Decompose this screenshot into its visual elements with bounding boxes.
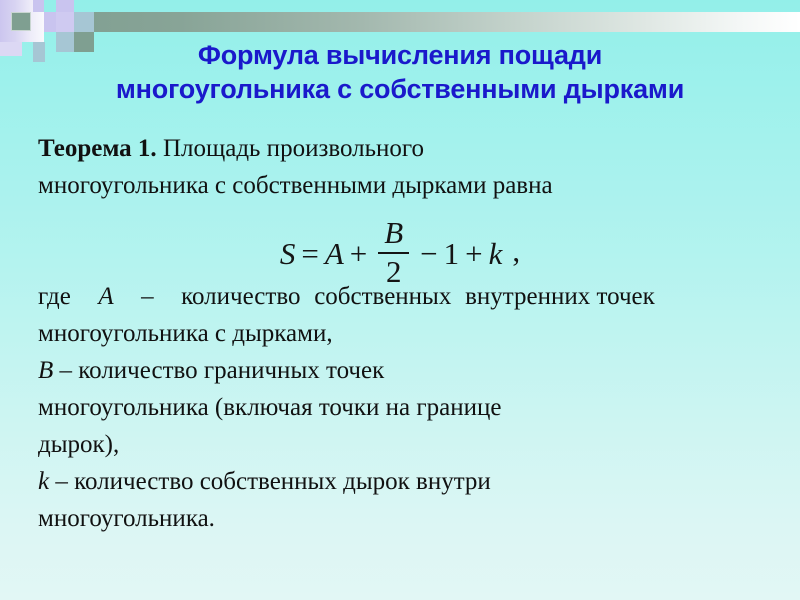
formula-term-k: k bbox=[489, 236, 503, 271]
definition-b-dash: – bbox=[60, 357, 73, 384]
definition-k: k – количество собственных дырок внутри … bbox=[38, 463, 780, 537]
formula-lhs: S bbox=[280, 236, 296, 271]
definition-b: B – количество граничных точек многоугол… bbox=[38, 352, 780, 463]
formula-plus-1: + bbox=[350, 236, 367, 271]
decorative-header-bar bbox=[44, 12, 800, 32]
formula-fraction-denominator: 2 bbox=[378, 255, 409, 289]
formula-plus-2: + bbox=[465, 236, 482, 271]
theorem-statement: Теорема 1. Площадь произвольного многоуг… bbox=[38, 130, 780, 204]
formula-trailing-comma: , bbox=[512, 233, 520, 268]
decorative-square-green-1 bbox=[11, 12, 31, 31]
theorem-statement-line-2: многоугольника с собственными дырками ра… bbox=[38, 172, 553, 199]
area-formula: S=A+B2−1+k, bbox=[280, 218, 520, 289]
definition-k-text-2: многоугольника. bbox=[38, 505, 215, 532]
variable-b-symbol: B bbox=[38, 357, 53, 384]
definition-b-text-2: многоугольника (включая точки на границе bbox=[38, 394, 501, 421]
theorem-statement-line-1: Площадь произвольного bbox=[163, 135, 424, 162]
decorative-square-lavender-3 bbox=[44, 12, 56, 32]
definition-b-text-1: количество граничных точек bbox=[78, 357, 384, 384]
formula-fraction: B2 bbox=[378, 217, 409, 288]
theorem-label: Теорема 1. bbox=[38, 135, 157, 162]
slide-body: Теорема 1. Площадь произвольного многоуг… bbox=[38, 130, 780, 537]
variable-k-symbol: k bbox=[38, 468, 49, 495]
formula-equals: = bbox=[301, 236, 318, 271]
formula-fraction-numerator: B bbox=[378, 217, 409, 251]
formula-minus: − bbox=[420, 236, 437, 271]
definition-k-text-1: количество собственных дырок внутри bbox=[74, 468, 491, 495]
decorative-square-blue-1 bbox=[74, 12, 94, 32]
slide-title: Формула вычисления пощади многоугольника… bbox=[0, 38, 800, 106]
definition-b-text-3: дырок), bbox=[38, 431, 119, 458]
decorative-square-lavender-4 bbox=[56, 12, 74, 32]
decorative-square-lavender-1 bbox=[33, 0, 44, 12]
definition-k-dash: – bbox=[55, 468, 68, 495]
formula-term-a: A bbox=[325, 236, 344, 271]
slide-canvas: Формула вычисления пощади многоугольника… bbox=[0, 0, 800, 600]
slide-title-line-1: Формула вычисления пощади bbox=[0, 38, 800, 72]
decorative-square-lavender-2 bbox=[56, 0, 74, 12]
formula-container: S=A+B2−1+k, bbox=[0, 218, 800, 289]
slide-title-line-2: многоугольника с собственными дырками bbox=[0, 72, 800, 106]
definition-a: где A – количество собственных внутренни… bbox=[38, 278, 780, 352]
formula-one: 1 bbox=[444, 236, 460, 271]
